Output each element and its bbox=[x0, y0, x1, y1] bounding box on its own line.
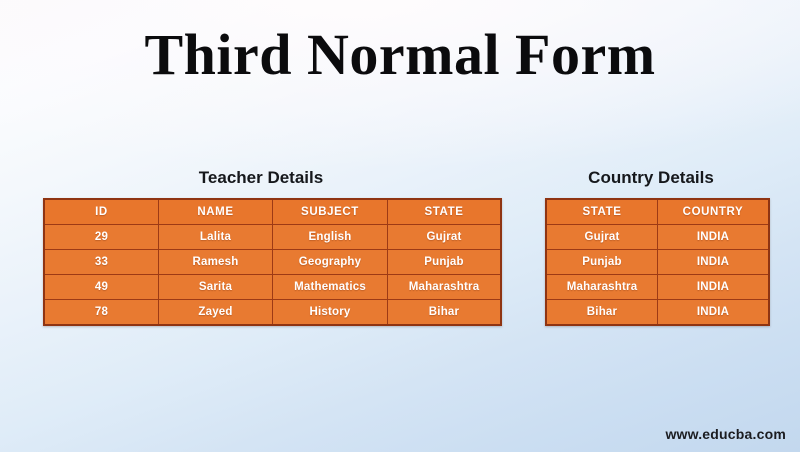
column-header-name: NAME bbox=[159, 199, 273, 225]
column-header-subject: SUBJECT bbox=[273, 199, 388, 225]
cell-country: INDIA bbox=[658, 300, 770, 326]
country-details-table: STATE COUNTRY Gujrat INDIA Punjab INDIA … bbox=[545, 198, 770, 326]
cell-subject: Mathematics bbox=[273, 275, 388, 300]
cell-subject: History bbox=[273, 300, 388, 326]
table-row: 49 Sarita Mathematics Maharashtra bbox=[44, 275, 501, 300]
slide-canvas: Third Normal Form Teacher Details ID NAM… bbox=[0, 0, 800, 452]
cell-country: INDIA bbox=[658, 275, 770, 300]
table-row: Bihar INDIA bbox=[546, 300, 769, 326]
cell-id: 78 bbox=[44, 300, 159, 326]
cell-state: Gujrat bbox=[546, 225, 658, 250]
table-row: Punjab INDIA bbox=[546, 250, 769, 275]
table-row: 29 Lalita English Gujrat bbox=[44, 225, 501, 250]
cell-id: 29 bbox=[44, 225, 159, 250]
cell-id: 33 bbox=[44, 250, 159, 275]
cell-name: Sarita bbox=[159, 275, 273, 300]
table-row: 78 Zayed History Bihar bbox=[44, 300, 501, 326]
table-row: 33 Ramesh Geography Punjab bbox=[44, 250, 501, 275]
cell-state: Bihar bbox=[388, 300, 502, 326]
column-header-country: COUNTRY bbox=[658, 199, 770, 225]
teacher-details-heading: Teacher Details bbox=[43, 168, 479, 188]
cell-state: Maharashtra bbox=[546, 275, 658, 300]
site-watermark: www.educba.com bbox=[665, 426, 786, 442]
cell-country: INDIA bbox=[658, 225, 770, 250]
column-header-state: STATE bbox=[546, 199, 658, 225]
country-details-panel: Country Details STATE COUNTRY Gujrat IND… bbox=[545, 168, 757, 326]
cell-name: Zayed bbox=[159, 300, 273, 326]
cell-state: Punjab bbox=[388, 250, 502, 275]
table-header-row: ID NAME SUBJECT STATE bbox=[44, 199, 501, 225]
cell-state: Gujrat bbox=[388, 225, 502, 250]
cell-subject: English bbox=[273, 225, 388, 250]
teacher-details-table: ID NAME SUBJECT STATE 29 Lalita English … bbox=[43, 198, 502, 326]
column-header-id: ID bbox=[44, 199, 159, 225]
column-header-state: STATE bbox=[388, 199, 502, 225]
cell-country: INDIA bbox=[658, 250, 770, 275]
page-title: Third Normal Form bbox=[0, 22, 800, 88]
cell-name: Lalita bbox=[159, 225, 273, 250]
country-details-heading: Country Details bbox=[545, 168, 757, 188]
cell-name: Ramesh bbox=[159, 250, 273, 275]
teacher-details-panel: Teacher Details ID NAME SUBJECT STATE 29… bbox=[43, 168, 479, 326]
cell-state: Punjab bbox=[546, 250, 658, 275]
table-row: Maharashtra INDIA bbox=[546, 275, 769, 300]
cell-state: Bihar bbox=[546, 300, 658, 326]
table-row: Gujrat INDIA bbox=[546, 225, 769, 250]
cell-subject: Geography bbox=[273, 250, 388, 275]
cell-id: 49 bbox=[44, 275, 159, 300]
table-header-row: STATE COUNTRY bbox=[546, 199, 769, 225]
cell-state: Maharashtra bbox=[388, 275, 502, 300]
